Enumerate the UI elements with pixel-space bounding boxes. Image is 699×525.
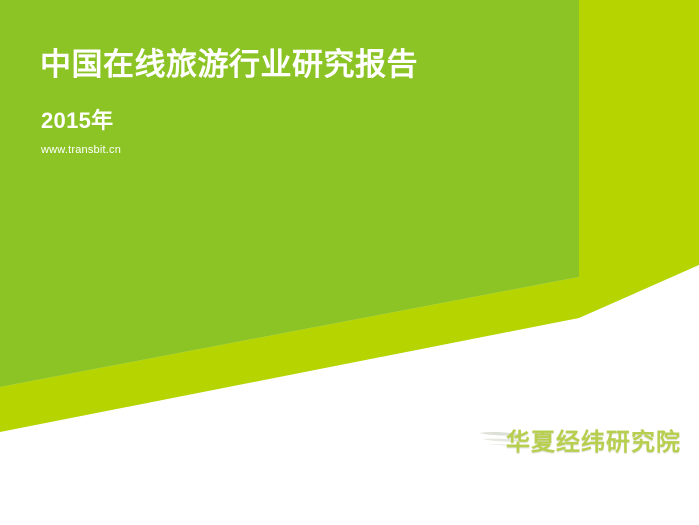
website-url: www.transbit.cn bbox=[41, 144, 121, 157]
page-title: 中国在线旅游行业研究报告 bbox=[40, 46, 418, 83]
page-subtitle-year: 2015年 bbox=[41, 108, 113, 134]
cover-text-layer: 中国在线旅游行业研究报告 2015年 www.transbit.cn 华夏经纬研… bbox=[0, 0, 699, 525]
cover-slide: 中国在线旅游行业研究报告 2015年 www.transbit.cn 华夏经纬研… bbox=[0, 0, 699, 525]
organization-logo: 华夏经纬研究院 bbox=[478, 418, 658, 464]
organization-name: 华夏经纬研究院 bbox=[506, 422, 681, 457]
